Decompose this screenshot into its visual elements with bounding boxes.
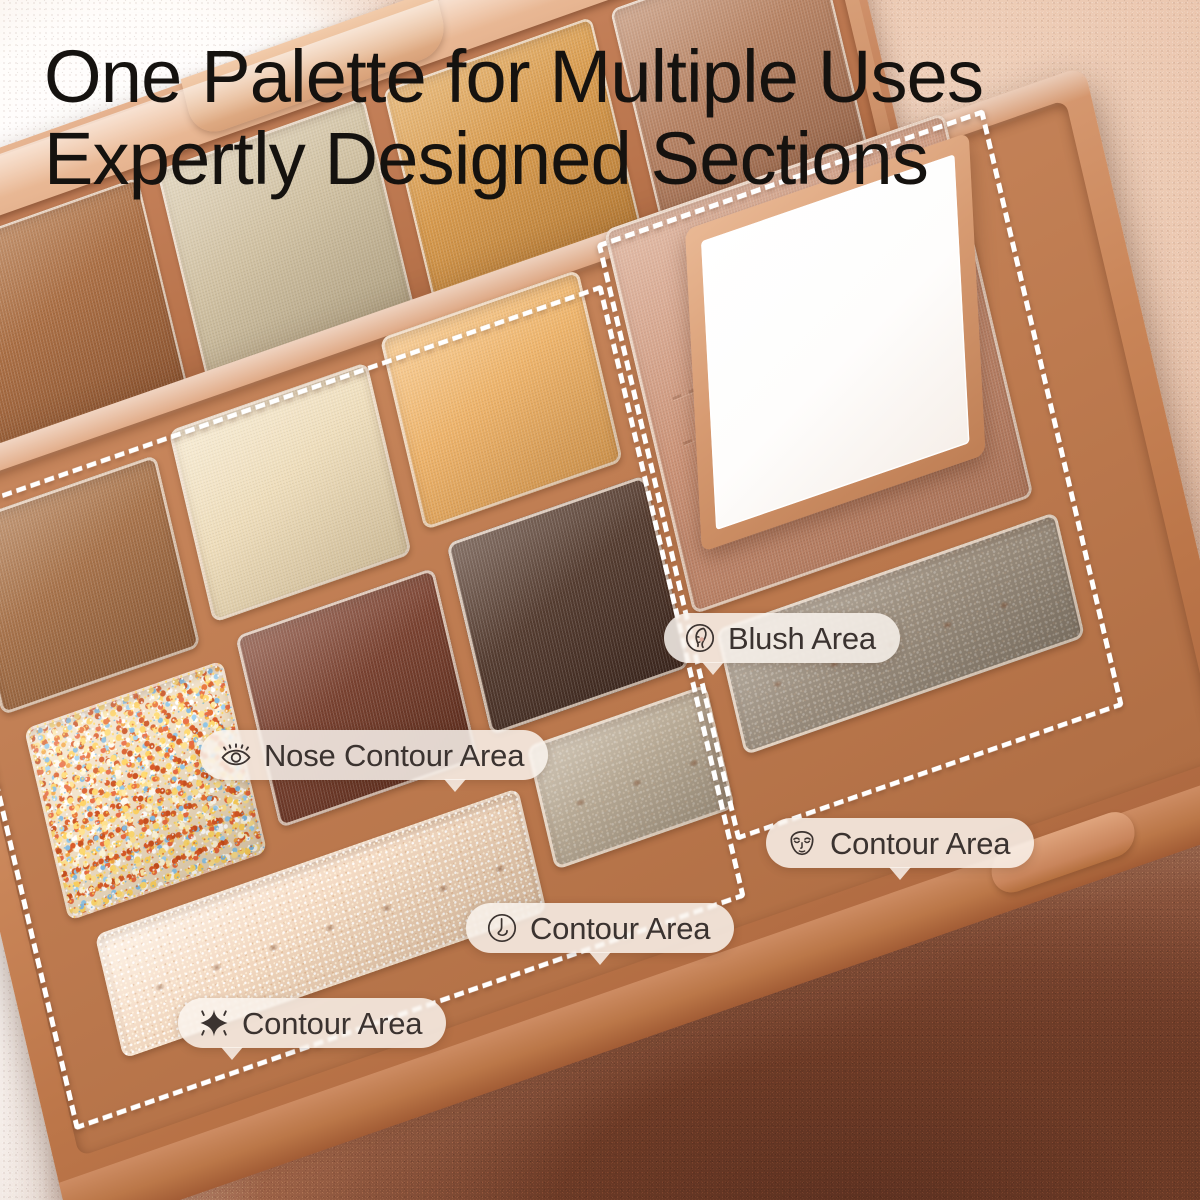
label-text: Nose Contour Area xyxy=(264,740,524,771)
pan-espresso-brown xyxy=(446,475,689,736)
label-text: Blush Area xyxy=(728,623,876,654)
pill-tail xyxy=(444,779,466,792)
pill-tail xyxy=(702,662,724,675)
label-blush-area[interactable]: Blush Area xyxy=(664,613,900,663)
headline-line-1: One Palette for Multiple Uses xyxy=(44,36,1104,118)
product-marketing-image: One Palette for Multiple Uses Expertly D… xyxy=(0,0,1200,1200)
face-contour-icon xyxy=(785,826,819,860)
makeup-palette: CARE xyxy=(0,180,1200,1200)
pill-tail xyxy=(221,1047,243,1060)
pill-tail xyxy=(589,952,611,965)
pan-sheen xyxy=(446,475,689,736)
label-nose-contour-area[interactable]: Nose Contour Area xyxy=(200,730,548,780)
label-contour-area-glow[interactable]: Contour Area xyxy=(178,998,446,1048)
pan-sheen xyxy=(24,660,267,921)
pan-multi-glitter xyxy=(24,660,267,921)
pan-sheen xyxy=(235,567,478,828)
pill-tail xyxy=(889,867,911,880)
nose-icon xyxy=(485,911,519,945)
eye-icon xyxy=(219,738,253,772)
sparkle-icon xyxy=(197,1006,231,1040)
face-blush-icon xyxy=(683,621,717,655)
label-text: Contour Area xyxy=(530,913,710,944)
label-contour-area-nose[interactable]: Contour Area xyxy=(466,903,734,953)
headline: One Palette for Multiple Uses Expertly D… xyxy=(44,36,1104,200)
label-text: Contour Area xyxy=(830,828,1010,859)
pan-deep-rust xyxy=(235,567,478,828)
pan-caramel-brown xyxy=(0,455,201,716)
headline-line-2: Expertly Designed Sections xyxy=(44,118,1104,200)
label-contour-area-face[interactable]: Contour Area xyxy=(766,818,1034,868)
label-text: Contour Area xyxy=(242,1008,422,1039)
pan-sheen xyxy=(0,455,201,716)
